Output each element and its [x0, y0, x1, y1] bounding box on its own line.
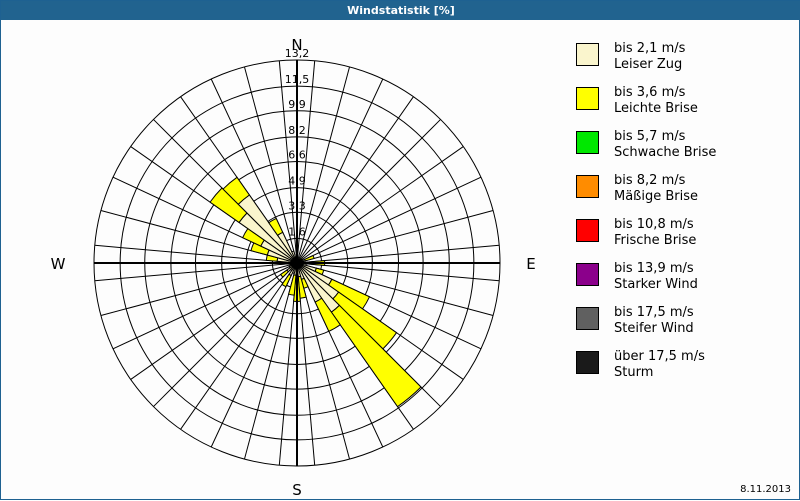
- wind-rose-svg: 1,63,34,96,68,29,911,513,2NESW: [1, 20, 566, 501]
- window-titlebar: Windstatistik [%]: [1, 1, 800, 20]
- legend-item: bis 17,5 m/sSteifer Wind: [576, 305, 791, 341]
- legend-color-swatch: [576, 307, 599, 330]
- legend-label: über 17,5 m/sSturm: [614, 349, 705, 381]
- legend-label: bis 3,6 m/sLeichte Brise: [614, 85, 698, 117]
- wind-rose-sector: [281, 270, 289, 277]
- grid-spoke: [297, 210, 493, 263]
- legend-color-swatch: [576, 87, 599, 110]
- legend-description: Steifer Wind: [614, 321, 694, 337]
- legend-label: bis 2,1 m/sLeiser Zug: [614, 41, 685, 73]
- legend-color-swatch: [576, 219, 599, 242]
- legend-speed: bis 17,5 m/s: [614, 305, 694, 320]
- legend-description: Starker Wind: [614, 277, 698, 293]
- legend-speed: bis 3,6 m/s: [614, 85, 685, 100]
- legend-item: bis 13,9 m/sStarker Wind: [576, 261, 791, 297]
- radial-tick-label: 3,3: [288, 199, 306, 212]
- wind-statistics-window: Windstatistik [%] 1,63,34,96,68,29,911,5…: [0, 0, 800, 500]
- grid-spoke: [101, 263, 297, 316]
- legend-item: bis 5,7 m/sSchwache Brise: [576, 129, 791, 165]
- grid-spoke: [181, 263, 297, 429]
- legend-color-swatch: [576, 263, 599, 286]
- legend-color-swatch: [576, 351, 599, 374]
- legend-item: bis 10,8 m/sFrische Brise: [576, 217, 791, 253]
- legend-label: bis 10,8 m/sFrische Brise: [614, 217, 696, 249]
- legend-description: Leichte Brise: [614, 101, 698, 117]
- legend-label: bis 13,9 m/sStarker Wind: [614, 261, 698, 293]
- legend-item: bis 3,6 m/sLeichte Brise: [576, 85, 791, 121]
- legend-description: Mäßige Brise: [614, 189, 698, 205]
- radial-tick-label: 11,5: [285, 73, 310, 86]
- legend-label: bis 5,7 m/sSchwache Brise: [614, 129, 716, 161]
- compass-label-north: N: [291, 36, 302, 54]
- legend: bis 2,1 m/sLeiser Zugbis 3,6 m/sLeichte …: [576, 41, 791, 393]
- legend-speed: über 17,5 m/s: [614, 349, 705, 364]
- wind-rose-plot: 1,63,34,96,68,29,911,513,2NESW: [1, 20, 566, 501]
- compass-label-south: S: [292, 481, 302, 499]
- radial-tick-label: 1,6: [288, 225, 306, 238]
- wind-rose-sectors: [210, 177, 421, 406]
- legend-color-swatch: [576, 43, 599, 66]
- legend-speed: bis 2,1 m/s: [614, 41, 685, 56]
- legend-speed: bis 10,8 m/s: [614, 217, 694, 232]
- radial-tick-label: 4,9: [288, 175, 306, 188]
- date-stamp: 8.11.2013: [740, 484, 791, 495]
- legend-label: bis 17,5 m/sSteifer Wind: [614, 305, 694, 337]
- grid-spoke: [131, 263, 297, 379]
- compass-label-east: E: [526, 255, 535, 273]
- window-title: Windstatistik [%]: [347, 4, 455, 17]
- legend-speed: bis 8,2 m/s: [614, 173, 685, 188]
- radial-tick-label: 8,2: [288, 124, 306, 137]
- legend-description: Leiser Zug: [614, 57, 685, 73]
- legend-speed: bis 13,9 m/s: [614, 261, 694, 276]
- legend-item: bis 8,2 m/sMäßige Brise: [576, 173, 791, 209]
- compass-label-west: W: [51, 255, 66, 273]
- legend-item: bis 2,1 m/sLeiser Zug: [576, 41, 791, 77]
- legend-color-swatch: [576, 131, 599, 154]
- legend-label: bis 8,2 m/sMäßige Brise: [614, 173, 698, 205]
- legend-item: über 17,5 m/sSturm: [576, 349, 791, 385]
- grid-spoke: [297, 97, 413, 263]
- legend-description: Schwache Brise: [614, 145, 716, 161]
- legend-color-swatch: [576, 175, 599, 198]
- legend-description: Sturm: [614, 365, 705, 381]
- radial-tick-label: 6,6: [288, 149, 306, 162]
- legend-description: Frische Brise: [614, 233, 696, 249]
- radial-tick-label: 9,9: [288, 98, 306, 111]
- grid-spoke: [297, 147, 463, 263]
- legend-speed: bis 5,7 m/s: [614, 129, 685, 144]
